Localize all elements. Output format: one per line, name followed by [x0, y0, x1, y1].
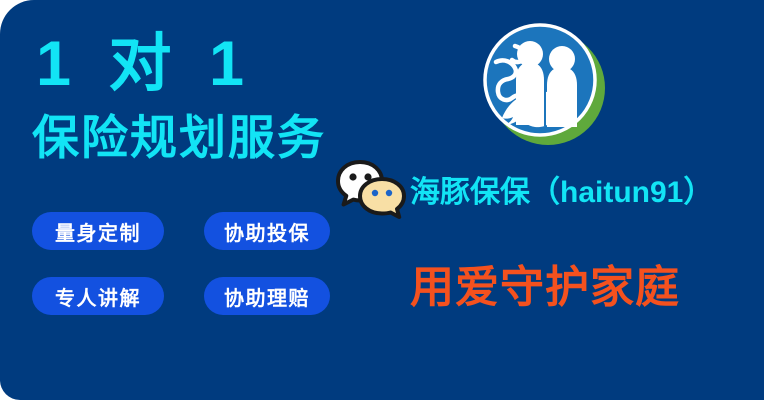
tag-assist-apply[interactable]: 协助投保 [204, 212, 330, 250]
headline-secondary: 保险规划服务 [32, 114, 326, 161]
insurance-promo-poster: 1 对 1 保险规划服务 量身定制 协助投保 专人讲解 协助理赔 [0, 0, 764, 400]
globe-family-dolphin-logo [482, 22, 608, 148]
wechat-icon [336, 156, 408, 222]
headline-primary: 1 对 1 [36, 33, 254, 96]
wechat-contact-row: 海豚保保（haitun91） [336, 156, 713, 222]
wechat-id-text: 海豚保保（haitun91） [410, 167, 713, 211]
tag-custom-plan[interactable]: 量身定制 [32, 212, 164, 250]
slogan-text: 用爱守护家庭 [410, 251, 680, 315]
tag-assist-claim[interactable]: 协助理赔 [204, 277, 330, 315]
tag-expert-explain[interactable]: 专人讲解 [32, 277, 164, 315]
